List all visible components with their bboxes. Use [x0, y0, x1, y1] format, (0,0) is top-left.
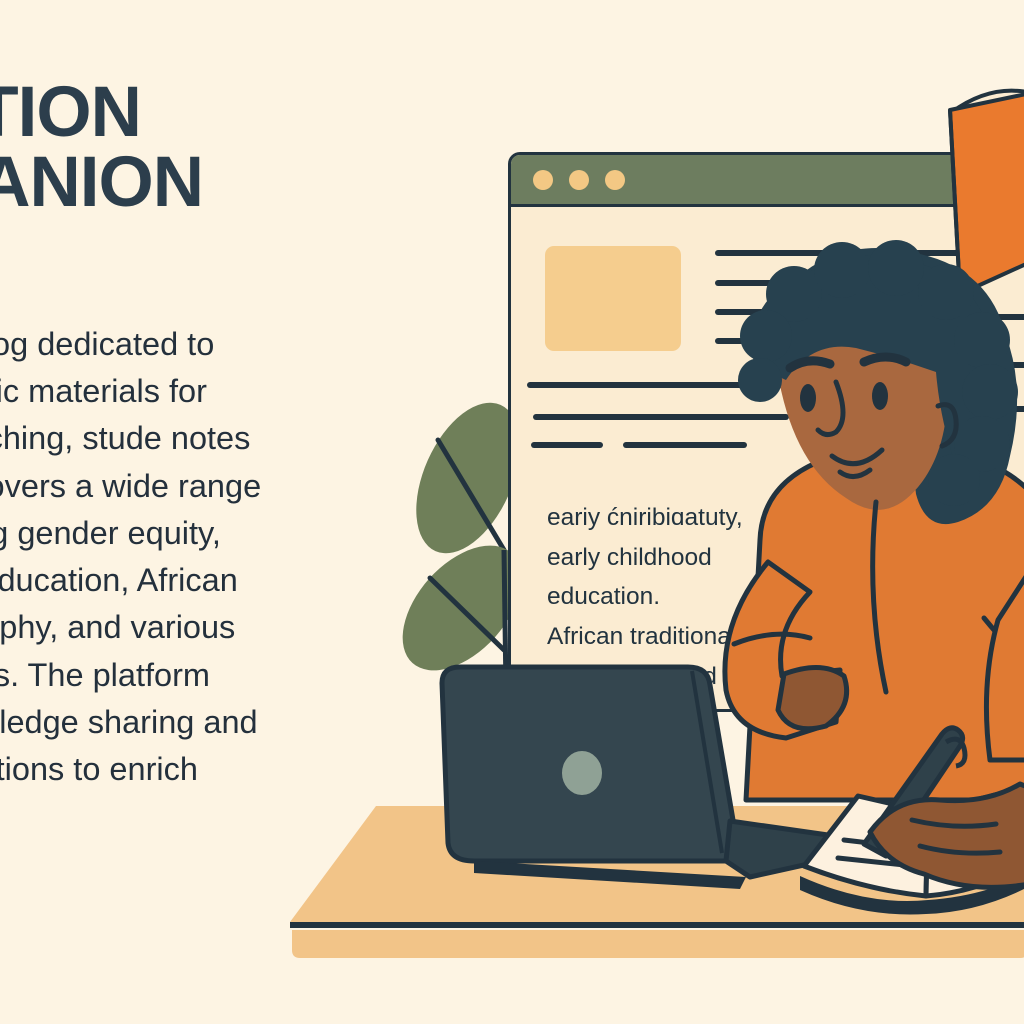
hero-description: tional blog dedicated to academic materi… [0, 321, 440, 841]
notebook-illustration [800, 700, 1024, 940]
hero-text-column: CATION MPANION G tional blog dedicated t… [0, 78, 440, 841]
text-line [531, 442, 603, 448]
banner-canvas: CATION MPANION G tional blog dedicated t… [0, 0, 1024, 1024]
image-placeholder [545, 246, 681, 351]
eyebrow-right [864, 357, 906, 362]
eye-right [872, 382, 888, 410]
laptop-logo-icon [562, 751, 602, 795]
laptop-illustration[interactable] [430, 655, 850, 945]
window-dot-close-icon[interactable] [533, 170, 553, 190]
page-title: CATION MPANION G [0, 78, 440, 287]
eye-left [800, 384, 816, 412]
window-dot-minimize-icon[interactable] [569, 170, 589, 190]
window-dot-maximize-icon[interactable] [605, 170, 625, 190]
